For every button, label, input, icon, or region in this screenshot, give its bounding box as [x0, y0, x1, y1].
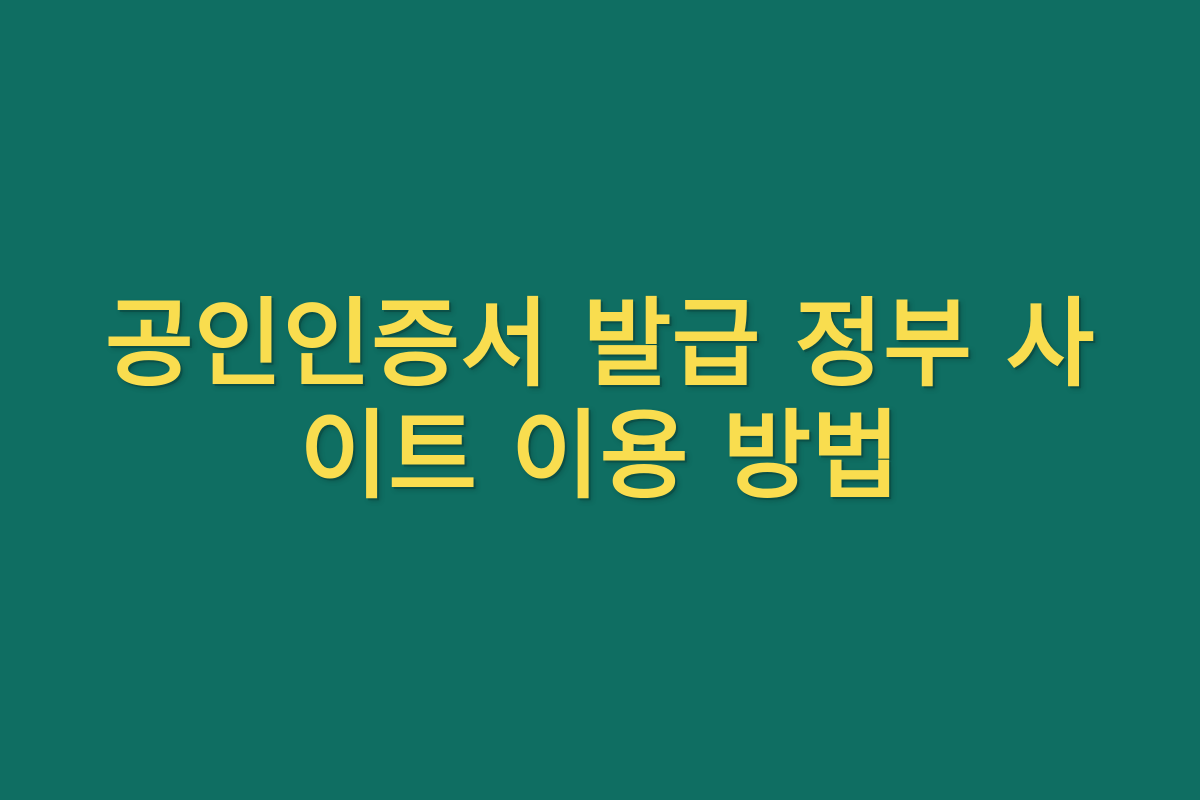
banner-canvas: 공인인증서 발급 정부 사 이트 이용 방법: [0, 0, 1200, 800]
banner-title: 공인인증서 발급 정부 사 이트 이용 방법: [70, 288, 1130, 513]
banner-title-line-2: 이트 이용 방법: [70, 400, 1130, 512]
banner-title-line-1: 공인인증서 발급 정부 사: [70, 288, 1130, 400]
